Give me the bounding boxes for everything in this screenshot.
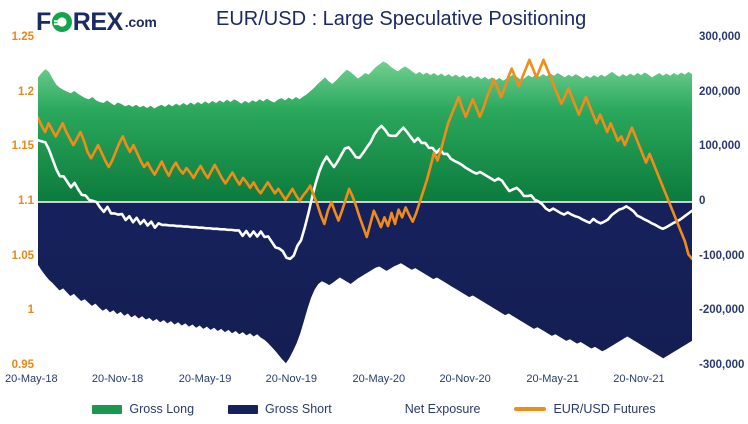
y-axis-left-tick: 1.15 <box>0 140 34 152</box>
page-title: EUR/USD : Large Speculative Positioning <box>216 8 586 31</box>
y-axis-right-tick: 300,000 <box>699 31 748 43</box>
forex-com-logo: F REX .com <box>36 9 157 35</box>
y-axis-right-tick: -200,000 <box>699 304 748 316</box>
x-axis-tick: 20-May-20 <box>353 373 406 385</box>
chart-plot-area <box>0 36 748 376</box>
legend-label: Gross Short <box>265 402 332 416</box>
legend-swatch-net-exposure <box>366 407 398 411</box>
y-axis-right-tick: 200,000 <box>699 86 748 98</box>
y-axis-left-tick: 1.05 <box>0 250 34 262</box>
x-axis-tick: 20-Nov-21 <box>613 373 664 385</box>
legend-item[interactable]: Gross Long <box>92 402 194 416</box>
chart-legend: Gross LongGross ShortNet ExposureEUR/USD… <box>0 398 748 420</box>
x-axis-tick: 20-Nov-18 <box>92 373 143 385</box>
y-axis-right-tick: 0 <box>699 195 748 207</box>
legend-item[interactable]: EUR/USD Futures <box>514 402 655 416</box>
logo-text-dotcom: .com <box>125 14 157 30</box>
chart-svg <box>0 36 748 376</box>
legend-swatch-gross-short <box>228 405 258 414</box>
legend-swatch-eur-usd-futures <box>514 407 546 411</box>
y-axis-right-tick: -300,000 <box>699 359 748 371</box>
euro-o-icon <box>51 11 73 33</box>
x-axis-tick: 20-May-18 <box>5 373 58 385</box>
logo-text-f: F <box>36 10 51 35</box>
legend-label: EUR/USD Futures <box>553 402 655 416</box>
legend-label: Net Exposure <box>405 402 481 416</box>
x-axis-tick: 20-May-21 <box>526 373 579 385</box>
legend-label: Gross Long <box>129 402 194 416</box>
x-axis-tick: 20-Nov-20 <box>439 373 490 385</box>
y-axis-left-tick: 1.25 <box>0 31 34 43</box>
chart-page: F REX .com EUR/USD : Large Speculative P… <box>0 0 748 424</box>
series-area-gross-long <box>38 62 692 202</box>
legend-item[interactable]: Net Exposure <box>366 402 481 416</box>
y-axis-left-tick: 0.95 <box>0 359 34 371</box>
x-axis-tick: 20-May-19 <box>179 373 232 385</box>
y-axis-left-tick: 1.2 <box>0 86 34 98</box>
legend-item[interactable]: Gross Short <box>228 402 332 416</box>
logo-text-rex: REX <box>73 10 123 35</box>
x-axis-tick: 20-Nov-19 <box>266 373 317 385</box>
y-axis-left-tick: 1 <box>0 304 34 316</box>
legend-swatch-gross-long <box>92 405 122 414</box>
series-area-gross-short <box>38 202 692 363</box>
y-axis-left-tick: 1.1 <box>0 195 34 207</box>
y-axis-right-tick: -100,000 <box>699 250 748 262</box>
y-axis-right-tick: 100,000 <box>699 140 748 152</box>
